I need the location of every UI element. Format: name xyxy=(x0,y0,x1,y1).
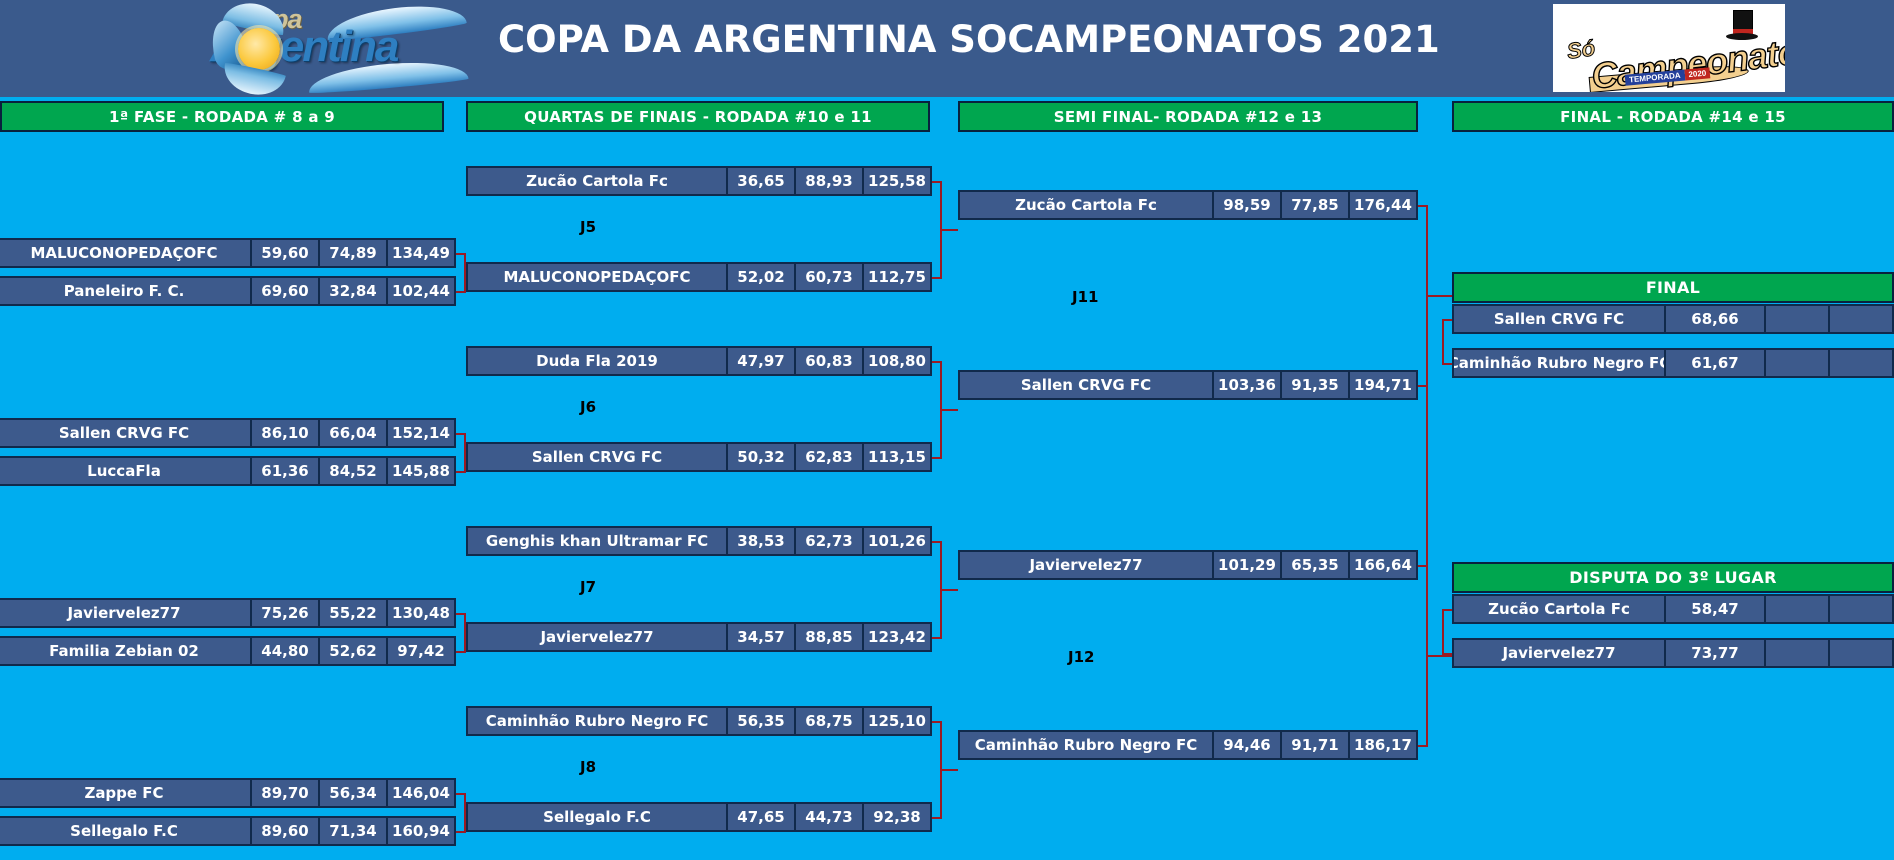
connector-line xyxy=(1442,653,1452,655)
connector-line xyxy=(940,589,958,591)
score-leg2: 66,04 xyxy=(318,420,386,446)
connector-line xyxy=(456,471,466,473)
score-leg2: 52,62 xyxy=(318,638,386,664)
connector-line xyxy=(1426,655,1452,657)
team-name: Zucão Cartola Fc xyxy=(960,192,1212,218)
team-name: Sallen CRVG FC xyxy=(0,420,250,446)
game-label: J6 xyxy=(580,398,596,416)
team-name: Sellegalo F.C xyxy=(468,804,726,830)
match-row[interactable]: Caminhão Rubro Negro FC61,67 xyxy=(1452,348,1894,378)
score-leg1: 47,97 xyxy=(726,348,794,374)
score-leg1: 69,60 xyxy=(250,278,318,304)
match-row[interactable]: Sallen CRVG FC103,3691,35194,71 xyxy=(958,370,1418,400)
match-row[interactable]: Javiervelez7734,5788,85123,42 xyxy=(466,622,932,652)
temporada-year: 2020 xyxy=(1684,67,1711,80)
score-total: 123,42 xyxy=(862,624,930,650)
score-leg1: 89,60 xyxy=(250,818,318,844)
score-leg2: 88,85 xyxy=(794,624,862,650)
match-row[interactable]: MALUCONOPEDAÇOFC52,0260,73112,75 xyxy=(466,262,932,292)
score-total: 176,44 xyxy=(1348,192,1416,218)
match-row[interactable]: Sallen CRVG FC50,3262,83113,15 xyxy=(466,442,932,472)
team-name: Javiervelez77 xyxy=(0,600,250,626)
score-leg1: 89,70 xyxy=(250,780,318,806)
score-total: 166,64 xyxy=(1348,552,1416,578)
page-header: Copa Argentina COPA DA ARGENTINA SOCAMPE… xyxy=(0,0,1894,97)
score-total: 97,42 xyxy=(386,638,454,664)
team-name: Sellegalo F.C xyxy=(0,818,250,844)
score-total: 125,58 xyxy=(862,168,930,194)
team-name: Caminhão Rubro Negro FC xyxy=(468,708,726,734)
match-row[interactable]: Sallen CRVG FC68,66 xyxy=(1452,304,1894,334)
game-label: J8 xyxy=(580,758,596,776)
score-total: 186,17 xyxy=(1348,732,1416,758)
connector-line xyxy=(1442,609,1444,653)
team-name: MALUCONOPEDAÇOFC xyxy=(0,240,250,266)
score-leg1: 56,35 xyxy=(726,708,794,734)
score-total xyxy=(1828,350,1892,376)
team-name: Sallen CRVG FC xyxy=(468,444,726,470)
score-total: 160,94 xyxy=(386,818,454,844)
score-total: 134,49 xyxy=(386,240,454,266)
score-leg2: 68,75 xyxy=(794,708,862,734)
score-leg2: 60,73 xyxy=(794,264,862,290)
score-total: 146,04 xyxy=(386,780,454,806)
third-place-title: DISPUTA DO 3º LUGAR xyxy=(1452,562,1894,593)
round-header-final[interactable]: FINAL - RODADA #14 e 15 xyxy=(1452,101,1894,132)
score-leg1: 38,53 xyxy=(726,528,794,554)
score-leg1: 75,26 xyxy=(250,600,318,626)
match-row[interactable]: Caminhão Rubro Negro FC94,4691,71186,17 xyxy=(958,730,1418,760)
match-row[interactable]: LuccaFla61,3684,52145,88 xyxy=(0,456,456,486)
team-name: Caminhão Rubro Negro FC xyxy=(1454,350,1664,376)
score-leg1: 103,36 xyxy=(1212,372,1280,398)
hat-brim-shape xyxy=(1726,33,1758,40)
match-row[interactable]: Caminhão Rubro Negro FC56,3568,75125,10 xyxy=(466,706,932,736)
score-total xyxy=(1828,596,1892,622)
connector-line xyxy=(1418,745,1428,747)
score-leg2: 55,22 xyxy=(318,600,386,626)
team-name: Zucão Cartola Fc xyxy=(468,168,726,194)
final-title: FINAL xyxy=(1452,272,1894,303)
sun-of-may-icon xyxy=(238,28,280,70)
score-leg2: 74,89 xyxy=(318,240,386,266)
team-name: Javiervelez77 xyxy=(1454,640,1664,666)
score-leg2: 44,73 xyxy=(794,804,862,830)
score-leg2: 62,83 xyxy=(794,444,862,470)
ball-arc-bottom-shape xyxy=(220,62,286,100)
score-leg2: 60,83 xyxy=(794,348,862,374)
score-leg1: 34,57 xyxy=(726,624,794,650)
team-name: Genghis khan Ultramar FC xyxy=(468,528,726,554)
match-row[interactable]: Javiervelez77101,2965,35166,64 xyxy=(958,550,1418,580)
match-row[interactable]: Javiervelez7773,77 xyxy=(1452,638,1894,668)
score-total: 125,10 xyxy=(862,708,930,734)
game-label: J12 xyxy=(1068,648,1094,666)
score-total: 112,75 xyxy=(862,264,930,290)
team-name: MALUCONOPEDAÇOFC xyxy=(468,264,726,290)
score-leg2: 91,35 xyxy=(1280,372,1348,398)
connector-line xyxy=(1426,295,1452,297)
score-leg2 xyxy=(1764,640,1828,666)
score-leg1: 52,02 xyxy=(726,264,794,290)
score-leg2: 71,34 xyxy=(318,818,386,844)
connector-line xyxy=(456,291,466,293)
score-leg2: 62,73 xyxy=(794,528,862,554)
match-row[interactable]: MALUCONOPEDAÇOFC59,6074,89134,49 xyxy=(0,238,456,268)
score-leg1: 47,65 xyxy=(726,804,794,830)
score-leg2: 77,85 xyxy=(1280,192,1348,218)
team-name: Sallen CRVG FC xyxy=(960,372,1212,398)
team-name: Familia Zebian 02 xyxy=(0,638,250,664)
score-leg2: 84,52 xyxy=(318,458,386,484)
match-row[interactable]: Javiervelez7775,2655,22130,48 xyxy=(0,598,456,628)
score-total: 113,15 xyxy=(862,444,930,470)
score-leg2 xyxy=(1764,306,1828,332)
match-row[interactable]: Genghis khan Ultramar FC38,5362,73101,26 xyxy=(466,526,932,556)
round-header-quartas[interactable]: QUARTAS DE FINAIS - RODADA #10 e 11 xyxy=(466,101,930,132)
connector-line xyxy=(932,817,942,819)
score-total xyxy=(1828,640,1892,666)
score-leg2: 56,34 xyxy=(318,780,386,806)
match-row[interactable]: Zucão Cartola Fc36,6588,93125,58 xyxy=(466,166,932,196)
match-row[interactable]: Zappe FC89,7056,34146,04 xyxy=(0,778,456,808)
connector-line xyxy=(940,769,958,771)
match-row[interactable]: Sellegalo F.C47,6544,7392,38 xyxy=(466,802,932,832)
score-total: 194,71 xyxy=(1348,372,1416,398)
argentina-sun-ball-icon xyxy=(208,6,292,90)
round-header-fase1[interactable]: 1ª FASE - RODADA # 8 a 9 xyxy=(0,101,444,132)
team-name: Javiervelez77 xyxy=(468,624,726,650)
connector-line xyxy=(456,651,466,653)
connector-line xyxy=(932,277,942,279)
score-leg1: 86,10 xyxy=(250,420,318,446)
match-row[interactable]: Zucão Cartola Fc98,5977,85176,44 xyxy=(958,190,1418,220)
match-row[interactable]: Paneleiro F. C.69,6032,84102,44 xyxy=(0,276,456,306)
score-leg2: 32,84 xyxy=(318,278,386,304)
score-leg2 xyxy=(1764,350,1828,376)
score-total: 108,80 xyxy=(862,348,930,374)
score-leg1: 98,59 xyxy=(1212,192,1280,218)
connector-line xyxy=(1442,319,1444,363)
connector-line xyxy=(1426,295,1428,655)
team-name: LuccaFla xyxy=(0,458,250,484)
team-name: Sallen CRVG FC xyxy=(1454,306,1664,332)
match-row[interactable]: Sallen CRVG FC86,1066,04152,14 xyxy=(0,418,456,448)
score-leg1: 94,46 xyxy=(1212,732,1280,758)
score-total: 152,14 xyxy=(386,420,454,446)
score-leg1: 61,36 xyxy=(250,458,318,484)
match-row[interactable]: Familia Zebian 0244,8052,6297,42 xyxy=(0,636,456,666)
game-label: J7 xyxy=(580,578,596,596)
game-label: J11 xyxy=(1072,288,1098,306)
so-campeonatos-logo: Só Campeonatos TEMPORADA 2020 xyxy=(1553,4,1785,92)
score-leg1: 73,77 xyxy=(1664,640,1764,666)
match-row[interactable]: Duda Fla 201947,9760,83108,80 xyxy=(466,346,932,376)
round-header-semifinal[interactable]: SEMI FINAL- RODADA #12 e 13 xyxy=(958,101,1418,132)
score-leg1: 61,67 xyxy=(1664,350,1764,376)
match-row[interactable]: Sellegalo F.C89,6071,34160,94 xyxy=(0,816,456,846)
connector-line xyxy=(456,831,466,833)
team-name: Caminhão Rubro Negro FC xyxy=(960,732,1212,758)
score-leg1: 59,60 xyxy=(250,240,318,266)
score-leg1: 68,66 xyxy=(1664,306,1764,332)
connector-line xyxy=(1442,363,1452,365)
score-leg2: 91,71 xyxy=(1280,732,1348,758)
team-name: Zucão Cartola Fc xyxy=(1454,596,1664,622)
team-name: Paneleiro F. C. xyxy=(0,278,250,304)
page-title: COPA DA ARGENTINA SOCAMPEONATOS 2021 xyxy=(498,18,1440,61)
score-leg1: 58,47 xyxy=(1664,596,1764,622)
score-total: 101,26 xyxy=(862,528,930,554)
score-leg1: 36,65 xyxy=(726,168,794,194)
score-leg2: 88,93 xyxy=(794,168,862,194)
score-total: 145,88 xyxy=(386,458,454,484)
top-hat-icon xyxy=(1729,10,1755,44)
score-total: 130,48 xyxy=(386,600,454,626)
team-name: Javiervelez77 xyxy=(960,552,1212,578)
score-total: 102,44 xyxy=(386,278,454,304)
connector-line xyxy=(940,229,958,231)
score-leg2: 65,35 xyxy=(1280,552,1348,578)
score-total: 92,38 xyxy=(862,804,930,830)
score-leg2 xyxy=(1764,596,1828,622)
connector-line xyxy=(932,637,942,639)
game-label: J5 xyxy=(580,218,596,236)
team-name: Zappe FC xyxy=(0,780,250,806)
score-total xyxy=(1828,306,1892,332)
score-leg1: 101,29 xyxy=(1212,552,1280,578)
connector-line xyxy=(932,457,942,459)
score-leg1: 50,32 xyxy=(726,444,794,470)
score-leg1: 44,80 xyxy=(250,638,318,664)
match-row[interactable]: Zucão Cartola Fc58,47 xyxy=(1452,594,1894,624)
team-name: Duda Fla 2019 xyxy=(468,348,726,374)
bracket-page: Copa Argentina COPA DA ARGENTINA SOCAMPE… xyxy=(0,0,1894,860)
connector-line xyxy=(940,409,958,411)
